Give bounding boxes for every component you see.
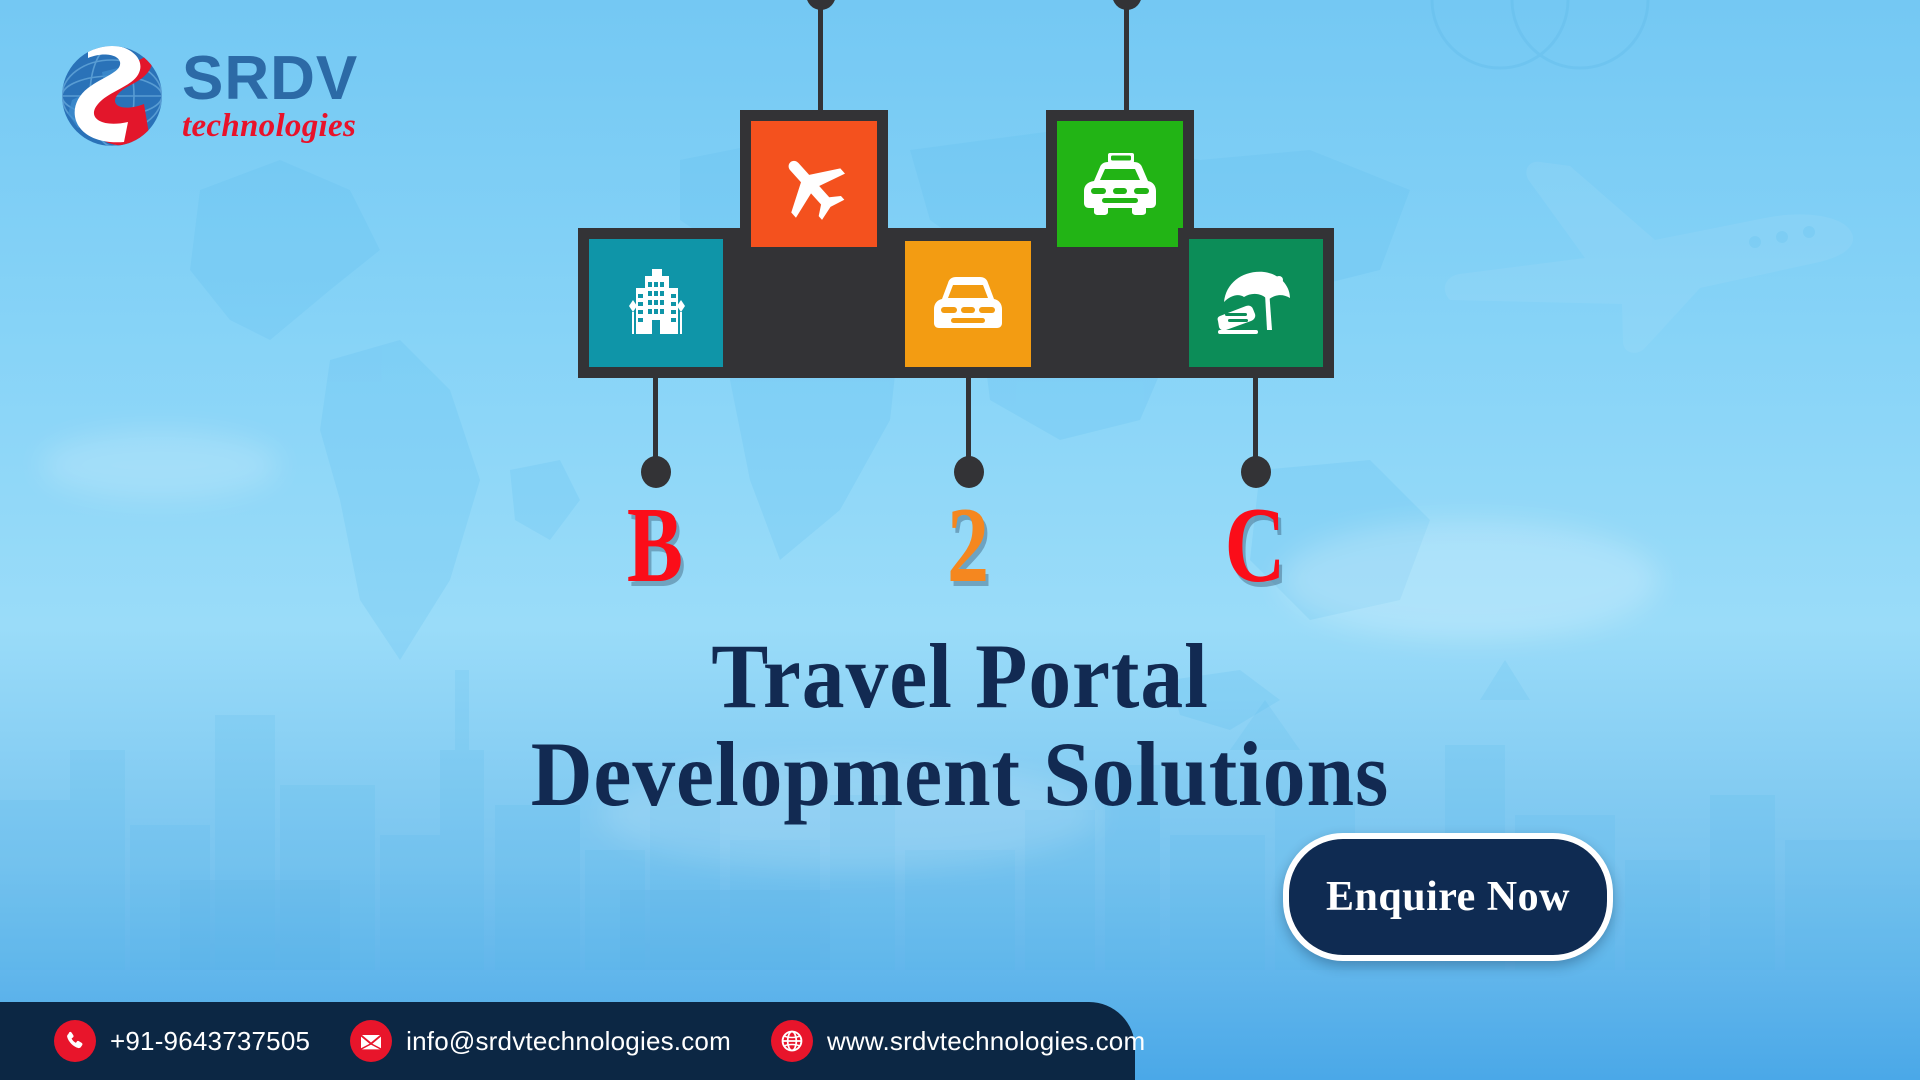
connector-dot-2	[954, 456, 984, 488]
connector-dot-flight	[806, 0, 836, 10]
headline-line-2: Development Solutions	[67, 728, 1853, 820]
globe-icon	[771, 1020, 813, 1062]
connector-line-c	[1253, 376, 1258, 462]
contact-footer-bar: +91-9643737505 info@srdvtechnologies.com	[0, 1002, 1135, 1080]
contact-website[interactable]: www.srdvtechnologies.com	[771, 1020, 1145, 1062]
banner-root: SRDV technologies	[0, 0, 1920, 1080]
service-tiles-group	[0, 0, 1920, 400]
cloud-decor	[40, 430, 280, 500]
b2c-letter-b: B	[612, 492, 698, 600]
b2c-letter-c: C	[1212, 492, 1298, 600]
phone-icon	[54, 1020, 96, 1062]
connector-line-flight	[818, 0, 823, 112]
beach-umbrella-icon	[1189, 239, 1323, 367]
email-icon	[350, 1020, 392, 1062]
car-icon	[905, 241, 1031, 367]
connector-dot-c	[1241, 456, 1271, 488]
taxi-icon	[1057, 121, 1183, 247]
tile-flight[interactable]	[740, 110, 888, 258]
phone-number-text: +91-9643737505	[110, 1026, 310, 1057]
b2c-letter-2: 2	[925, 492, 1011, 600]
connector-dot-b	[641, 456, 671, 488]
connector-line-b	[653, 376, 658, 462]
connector-line-2	[966, 376, 971, 462]
connector-line-taxi	[1124, 0, 1129, 112]
page-title: Travel Portal Development Solutions	[0, 630, 1920, 820]
tile-holiday[interactable]	[1178, 228, 1334, 378]
tile-cab[interactable]	[894, 230, 1042, 378]
hotel-building-icon	[589, 239, 723, 367]
tile-taxi[interactable]	[1046, 110, 1194, 258]
enquire-now-label: Enquire Now	[1326, 873, 1570, 921]
b2c-label-group: B 2 C	[0, 492, 1920, 602]
contact-phone[interactable]: +91-9643737505	[54, 1020, 310, 1062]
contact-email[interactable]: info@srdvtechnologies.com	[350, 1020, 731, 1062]
connector-dot-taxi	[1112, 0, 1142, 10]
website-url-text: www.srdvtechnologies.com	[827, 1026, 1145, 1057]
enquire-now-button[interactable]: Enquire Now	[1283, 833, 1613, 961]
email-address-text: info@srdvtechnologies.com	[406, 1026, 731, 1057]
headline-line-1: Travel Portal	[67, 630, 1853, 722]
tile-hotel[interactable]	[578, 228, 734, 378]
airplane-icon	[751, 121, 877, 247]
